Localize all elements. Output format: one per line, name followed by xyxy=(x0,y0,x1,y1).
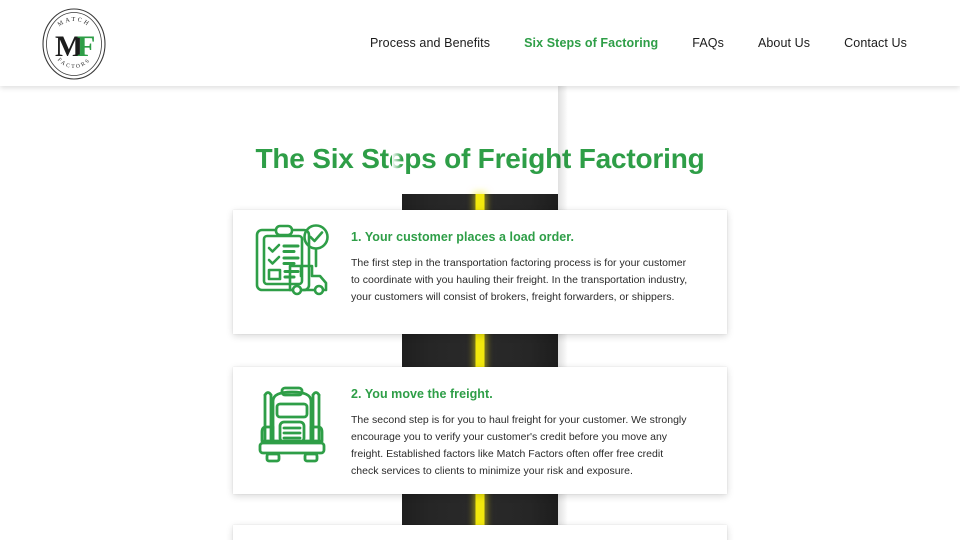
step-card-3-body xyxy=(351,525,727,540)
step-card-1-body: 1. Your customer places a load order. Th… xyxy=(351,210,727,322)
step-card-3-icon xyxy=(233,525,351,537)
step-card-1[interactable]: 1. Your customer places a load order. Th… xyxy=(233,210,727,334)
page-content: The Six Steps of Freight Factoring xyxy=(0,86,960,540)
step-card-3[interactable] xyxy=(233,525,727,540)
page-title: The Six Steps of Freight Factoring xyxy=(0,143,960,175)
step-card-1-heading: 1. Your customer places a load order. xyxy=(351,230,693,244)
nav-item-contact-us[interactable]: Contact Us xyxy=(827,31,924,56)
step-card-1-text: The first step in the transportation fac… xyxy=(351,255,693,306)
step-card-2-heading: 2. You move the freight. xyxy=(351,387,693,401)
nav-item-six-steps-of-factoring[interactable]: Six Steps of Factoring xyxy=(507,31,675,56)
step-card-2-body: 2. You move the freight. The second step… xyxy=(351,367,727,496)
step-card-2-text: The second step is for you to haul freig… xyxy=(351,412,693,480)
clipboard-checklist-truck-icon xyxy=(233,210,351,296)
match-factors-logo-icon: MATCH FACTORS M F xyxy=(36,6,112,82)
main-navigation: Process and Benefits Six Steps of Factor… xyxy=(353,0,924,86)
step-card-2[interactable]: 2. You move the freight. The second step… xyxy=(233,367,727,494)
nav-item-process-and-benefits[interactable]: Process and Benefits xyxy=(353,31,507,56)
nav-item-about-us[interactable]: About Us xyxy=(741,31,827,56)
site-logo[interactable]: MATCH FACTORS M F xyxy=(36,6,112,82)
site-header: MATCH FACTORS M F Process and Benefits S… xyxy=(0,0,960,86)
semi-truck-front-icon xyxy=(233,367,351,469)
svg-text:F: F xyxy=(77,30,95,63)
nav-item-faqs[interactable]: FAQs xyxy=(675,31,741,56)
